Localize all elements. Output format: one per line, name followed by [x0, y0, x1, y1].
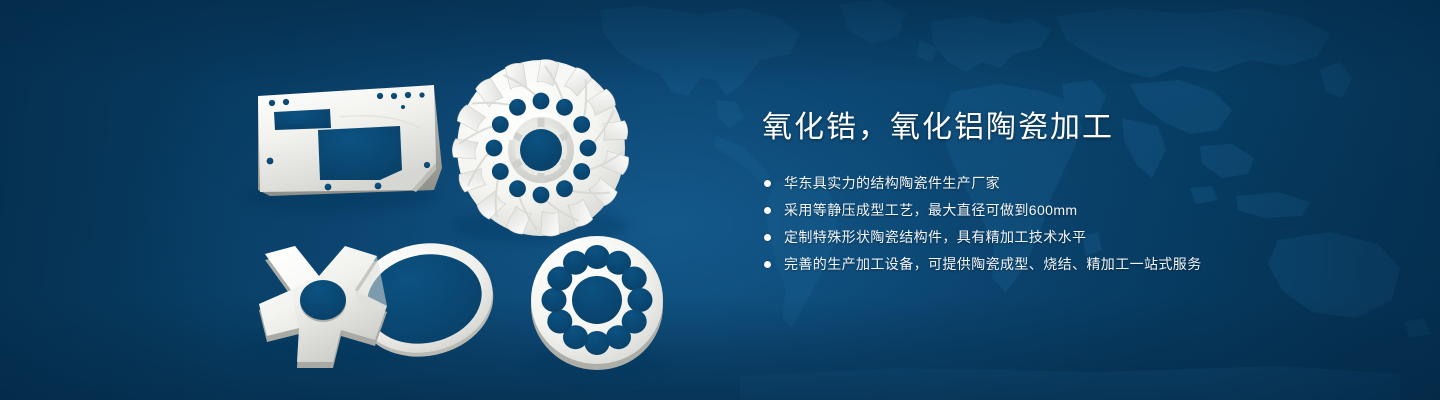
disc-bore [572, 276, 622, 324]
list-item-label: 定制特殊形状陶瓷结构件，具有精加工技术水平 [784, 229, 1086, 245]
plate-hole [267, 158, 274, 165]
ceramic-processing-banner: 氧化锆，氧化铝陶瓷加工 华东具实力的结构陶瓷件生产厂家 采用等静压成型工艺，最大… [0, 0, 1440, 400]
ceramic-vaned-impeller [451, 60, 631, 239]
list-item: 定制特殊形状陶瓷结构件，具有精加工技术水平 [762, 224, 1382, 251]
cross-bore [300, 280, 346, 320]
list-item-label: 采用等静压成型工艺，最大直径可做到600mm [784, 202, 1077, 218]
plate-hole [283, 99, 289, 105]
page-title: 氧化锆，氧化铝陶瓷加工 [762, 108, 1382, 148]
bullet-icon [764, 261, 771, 268]
bullet-icon [764, 234, 771, 241]
list-item: 完善的生产加工设备，可提供陶瓷成型、烧结、精加工一站式服务 [762, 251, 1382, 278]
list-item: 采用等静压成型工艺，最大直径可做到600mm [762, 197, 1382, 224]
bullet-icon [764, 180, 771, 187]
plate-hole [325, 184, 332, 191]
plate-hole [269, 100, 275, 106]
bullet-icon [764, 207, 771, 214]
list-item-label: 华东具实力的结构陶瓷件生产厂家 [784, 175, 1000, 191]
banner-copy: 氧化锆，氧化铝陶瓷加工 华东具实力的结构陶瓷件生产厂家 采用等静压成型工艺，最大… [762, 108, 1382, 278]
plate-hole [405, 92, 411, 98]
plate-hole [401, 105, 405, 109]
plate-hole [424, 162, 430, 168]
plate-hole [377, 93, 383, 99]
plate-hole [391, 93, 397, 99]
plate-hole [375, 183, 382, 190]
ceramic-products-photo [0, 0, 760, 400]
ceramic-perforated-disc [531, 236, 663, 370]
list-item: 华东具实力的结构陶瓷件生产厂家 [762, 170, 1382, 197]
plate-hole [419, 92, 424, 97]
impeller-bore [520, 129, 562, 171]
feature-list: 华东具实力的结构陶瓷件生产厂家 采用等静压成型工艺，最大直径可做到600mm 定… [762, 170, 1382, 278]
list-item-label: 完善的生产加工设备，可提供陶瓷成型、烧结、精加工一站式服务 [784, 256, 1202, 272]
ceramic-mounting-plate [258, 85, 442, 196]
